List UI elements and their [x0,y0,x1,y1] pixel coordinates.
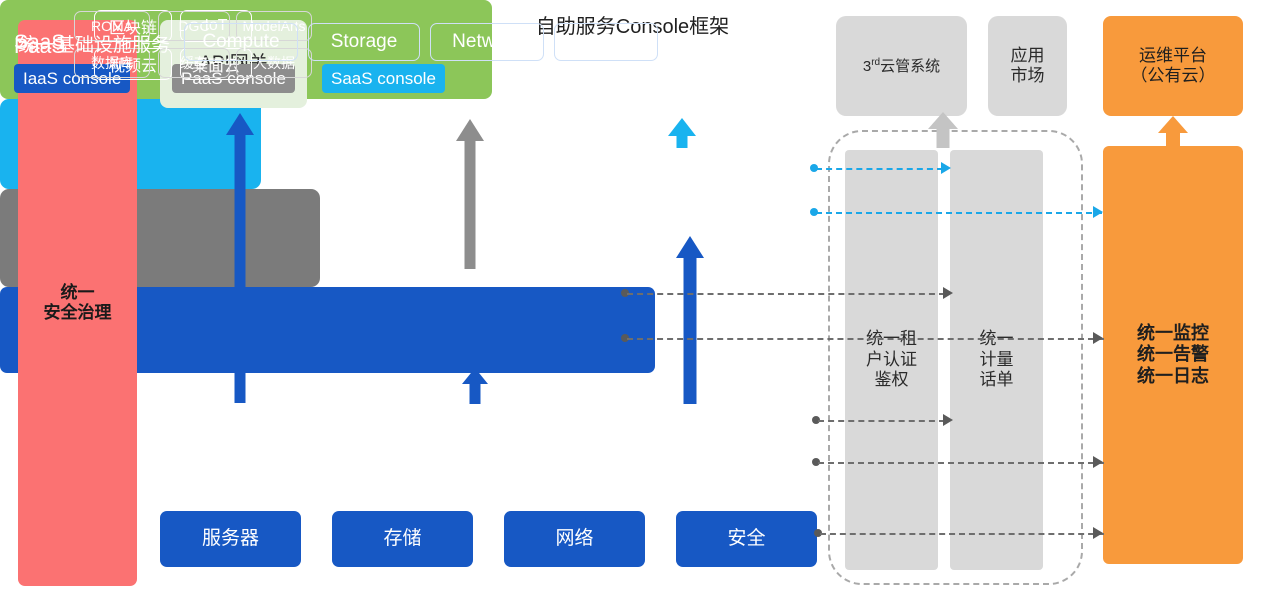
connector-hardware-to-ops [820,533,1104,535]
hardware-item-server-label: 服务器 [202,528,259,550]
panel-unified-security-governance-label: 统一安全治理 [44,283,112,323]
hardware-item-security[interactable]: 安全 [676,511,817,567]
connector-infra-to-auth [818,420,945,422]
arrow-infra-to-saas [676,236,704,404]
arrow-ops-main-to-ops-platform [1158,116,1188,148]
panel-unified-security-governance: 统一安全治理 [18,20,137,586]
connector-arrowhead-infra-1 [943,414,953,426]
panel-unified-monitor-alarm-log-label: 统一监控统一告警统一日志 [1137,323,1209,387]
arrow-infra-to-api-gateway [226,113,254,403]
third-party-superscript: rd [871,57,880,68]
architecture-diagram: 统一安全治理 API网关 自助服务Console框架 IaaS console … [0,0,1265,605]
panel-ops-platform-public-cloud: 运维平台（公有云） [1103,16,1243,116]
connector-saas-to-ops [816,212,1102,214]
hardware-item-storage-label: 存储 [383,528,421,550]
connector-arrowhead-hardware [1093,527,1103,539]
connector-paas-to-auth [627,293,945,295]
infra-item-compute[interactable]: Compute [184,23,298,61]
connector-arrowhead-saas-1 [941,162,951,174]
arrow-shared-to-third-party [928,112,958,148]
hardware-item-server[interactable]: 服务器 [160,511,301,567]
third-party-label: 云管系统 [880,58,940,75]
infra-item-cce[interactable]: CCE [554,23,658,61]
hardware-item-security-label: 安全 [727,528,765,550]
infra-item-network[interactable]: Network [430,23,544,61]
panel-application-market: 应用市场 [988,16,1067,116]
hardware-item-storage[interactable]: 存储 [332,511,473,567]
panel-third-party-cloud-management: 3rd云管系统 [836,16,967,116]
hardware-item-network-label: 网络 [555,528,593,550]
connector-arrowhead-paas-1 [943,287,953,299]
connector-arrowhead-infra-2 [1093,456,1103,468]
panel-unified-monitor-alarm-log: 统一监控统一告警统一日志 [1103,146,1243,564]
panel-ops-platform-label: 运维平台（公有云） [1131,46,1216,86]
arrow-infra-to-paas [462,368,488,404]
connector-saas-to-auth [816,168,943,170]
connector-paas-to-ops [627,338,1104,340]
third-party-prefix: 3 [863,58,871,75]
connector-arrowhead-saas-2 [1093,206,1103,218]
arrow-saas-to-console [668,118,696,148]
connector-arrowhead-paas-2 [1093,332,1103,344]
panel-unified-infrastructure-label: 统一基础设施服务 [18,30,170,57]
panel-application-market-label: 应用市场 [1011,46,1045,86]
arrow-paas-to-console [456,119,484,269]
connector-infra-to-ops [818,462,1104,464]
chip-saas-console[interactable]: SaaS console [322,64,445,93]
infra-item-storage[interactable]: Storage [308,23,420,61]
hardware-item-network[interactable]: 网络 [504,511,645,567]
